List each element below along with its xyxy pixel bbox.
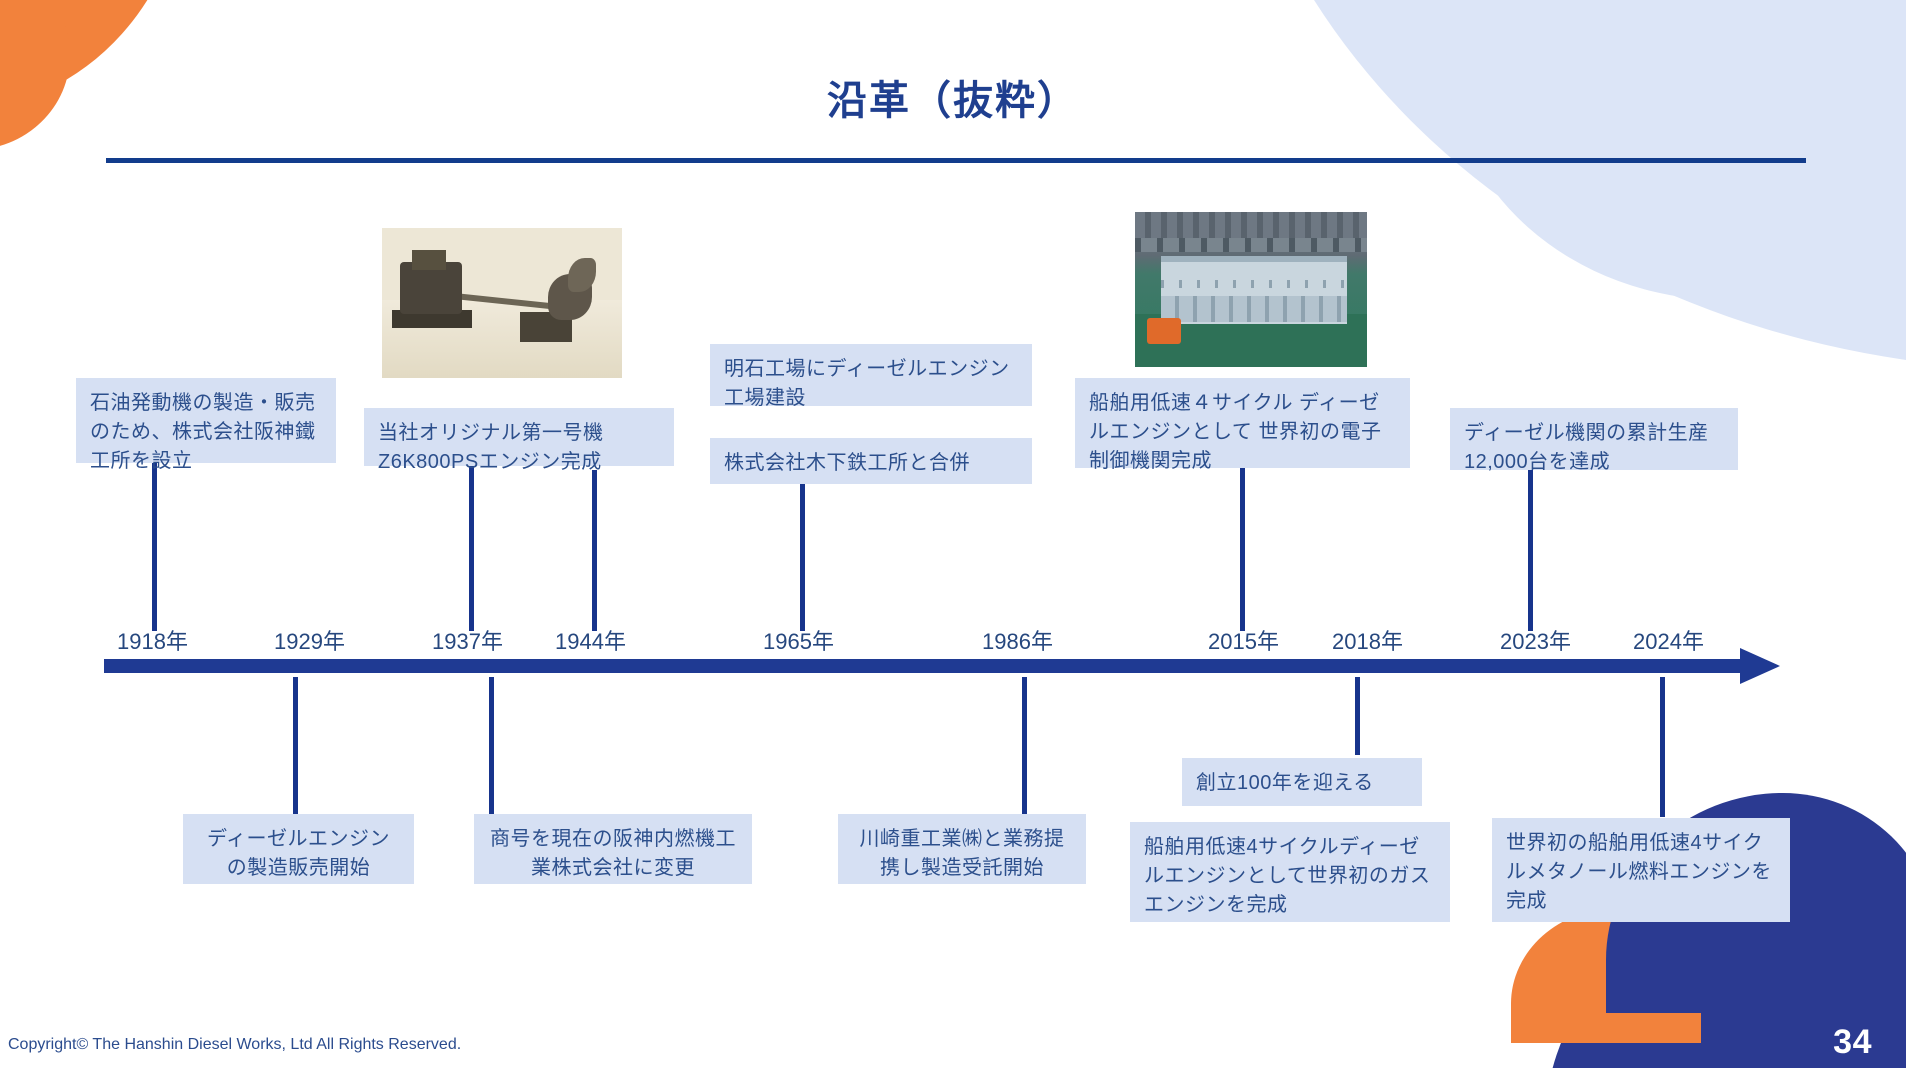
event-box-2018-gas-engine[interactable]: 船舶用低速4サイクルディーゼルエンジンとして世界初のガスエンジンを完成 bbox=[1130, 822, 1450, 922]
page-title: 沿革（抜粋） bbox=[0, 68, 1906, 126]
event-box-1918[interactable]: 石油発動機の製造・販売のため、株式会社阪神鐵工所を設立 bbox=[76, 378, 336, 463]
decor-blob-bottom-right-orange bbox=[1511, 908, 1701, 1043]
stem-1986 bbox=[1022, 677, 1027, 817]
event-box-2018-founding[interactable]: 創立100年を迎える bbox=[1182, 758, 1422, 806]
stem-1937-below bbox=[489, 677, 494, 817]
stem-1944 bbox=[592, 470, 597, 631]
slide-root: 沿革（抜粋） 石油発動機の製造・販売のため、株式会社阪神鐵工所を設立 当社オリジ… bbox=[0, 0, 1906, 1068]
event-box-1944[interactable]: 明石工場にディーゼルエンジン工場建設 bbox=[710, 344, 1032, 406]
event-box-1965[interactable]: 株式会社木下鉄工所と合併 bbox=[710, 438, 1032, 484]
stem-1937-above bbox=[469, 466, 474, 631]
year-label-2024: 2024年 bbox=[1633, 624, 1704, 656]
photo-shape bbox=[1147, 318, 1181, 344]
stem-2018-founding bbox=[1355, 677, 1360, 755]
stem-1965 bbox=[800, 484, 805, 631]
timeline-axis-bar bbox=[104, 659, 1744, 673]
year-label-1937: 1937年 bbox=[432, 624, 503, 656]
page-number: 34 bbox=[1833, 1023, 1872, 1062]
stem-2015 bbox=[1240, 468, 1245, 631]
timeline-axis bbox=[104, 655, 1784, 677]
stem-2023 bbox=[1528, 470, 1533, 631]
photo-shape bbox=[412, 250, 446, 270]
year-label-1986: 1986年 bbox=[982, 624, 1053, 656]
stem-1929 bbox=[293, 677, 298, 817]
year-label-2023: 2023年 bbox=[1500, 624, 1571, 656]
year-label-2018: 2018年 bbox=[1332, 624, 1403, 656]
title-underline bbox=[106, 158, 1806, 163]
photo-shape bbox=[1135, 212, 1367, 238]
event-box-2015[interactable]: 船舶用低速４サイクル ディーゼルエンジンとして 世界初の電子制御機関完成 bbox=[1075, 378, 1410, 468]
stem-1918 bbox=[152, 463, 157, 631]
engine-factory-photo bbox=[1135, 212, 1367, 367]
event-box-2024[interactable]: 世界初の船舶用低速4サイクルメタノール燃料エンジンを完成 bbox=[1492, 818, 1790, 922]
event-box-1929[interactable]: ディーゼルエンジンの製造販売開始 bbox=[183, 814, 414, 884]
year-label-1929: 1929年 bbox=[274, 624, 345, 656]
early-engine-photo bbox=[382, 228, 622, 378]
year-label-1944: 1944年 bbox=[555, 624, 626, 656]
decor-blob-top-right-2 bbox=[1446, 0, 1906, 300]
event-box-1937-above[interactable]: 当社オリジナル第一号機 Z6K800PSエンジン完成 bbox=[364, 408, 674, 466]
event-box-2023[interactable]: ディーゼル機関の累計生産12,000台を達成 bbox=[1450, 408, 1738, 470]
timeline-arrow-icon bbox=[1740, 648, 1780, 684]
year-label-2015: 2015年 bbox=[1208, 624, 1279, 656]
photo-shape bbox=[1161, 256, 1347, 324]
year-label-1965: 1965年 bbox=[763, 624, 834, 656]
stem-2024 bbox=[1660, 677, 1665, 817]
event-box-1986[interactable]: 川崎重工業㈱と業務提携し製造受託開始 bbox=[838, 814, 1086, 884]
year-label-1918: 1918年 bbox=[117, 624, 188, 656]
photo-shape bbox=[1135, 238, 1367, 252]
event-box-1937-below[interactable]: 商号を現在の阪神内燃機工業株式会社に変更 bbox=[474, 814, 752, 884]
copyright-footer: Copyright© The Hanshin Diesel Works, Ltd… bbox=[8, 1036, 461, 1054]
